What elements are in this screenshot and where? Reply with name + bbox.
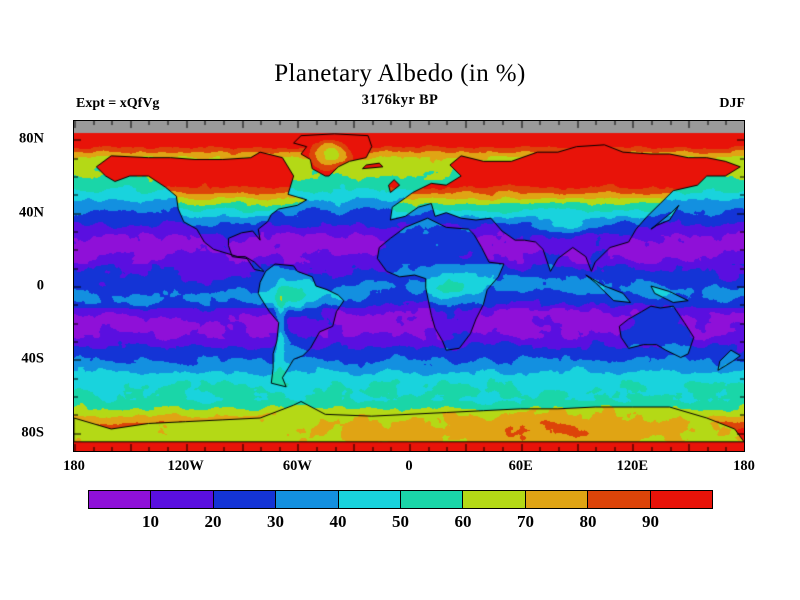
lon-tick-120E: 120E: [617, 458, 648, 475]
lat-tick-40N: 40N: [0, 204, 44, 221]
lat-tick-0: 0: [0, 278, 44, 295]
page-title: Planetary Albedo (in %): [0, 60, 800, 88]
colorbar-tick-80: 80: [580, 512, 597, 532]
lat-tick-80N: 80N: [0, 131, 44, 148]
albedo-map-figure: Planetary Albedo (in %) 3176kyr BP Expt …: [0, 0, 800, 600]
colorbar-band-70-80: [525, 491, 587, 508]
colorbar-tick-40: 40: [330, 512, 347, 532]
lat-tick-40S: 40S: [0, 351, 44, 368]
lon-tick-60W: 60W: [283, 458, 312, 475]
colorbar-tick-70: 70: [517, 512, 534, 532]
colorbar-band-20-30: [213, 491, 275, 508]
lon-tick-120W: 120W: [168, 458, 204, 475]
colorbar: [88, 490, 713, 509]
map-plot-area: [73, 120, 745, 452]
colorbar-band-10-20: [150, 491, 212, 508]
lon-tick-0: 0: [405, 458, 412, 475]
colorbar-tick-50: 50: [392, 512, 409, 532]
colorbar-band-30-40: [275, 491, 337, 508]
albedo-field: [74, 121, 744, 451]
colorbar-tick-30: 30: [267, 512, 284, 532]
lon-tick-60E: 60E: [509, 458, 533, 475]
lon-tick-180: 180: [63, 458, 85, 475]
colorbar-band-50-60: [400, 491, 462, 508]
lat-tick-80S: 80S: [0, 424, 44, 441]
colorbar-band-0-10: [89, 491, 150, 508]
colorbar-band-40-50: [338, 491, 400, 508]
colorbar-tick-20: 20: [205, 512, 222, 532]
colorbar-tick-60: 60: [455, 512, 472, 532]
colorbar-tick-90: 90: [642, 512, 659, 532]
colorbar-band-60-70: [462, 491, 524, 508]
colorbar-tick-10: 10: [142, 512, 159, 532]
colorbar-band-80-90: [587, 491, 649, 508]
season-label: DJF: [0, 96, 745, 112]
lon-tick-180: 180: [733, 458, 755, 475]
colorbar-band-90-100: [650, 491, 712, 508]
